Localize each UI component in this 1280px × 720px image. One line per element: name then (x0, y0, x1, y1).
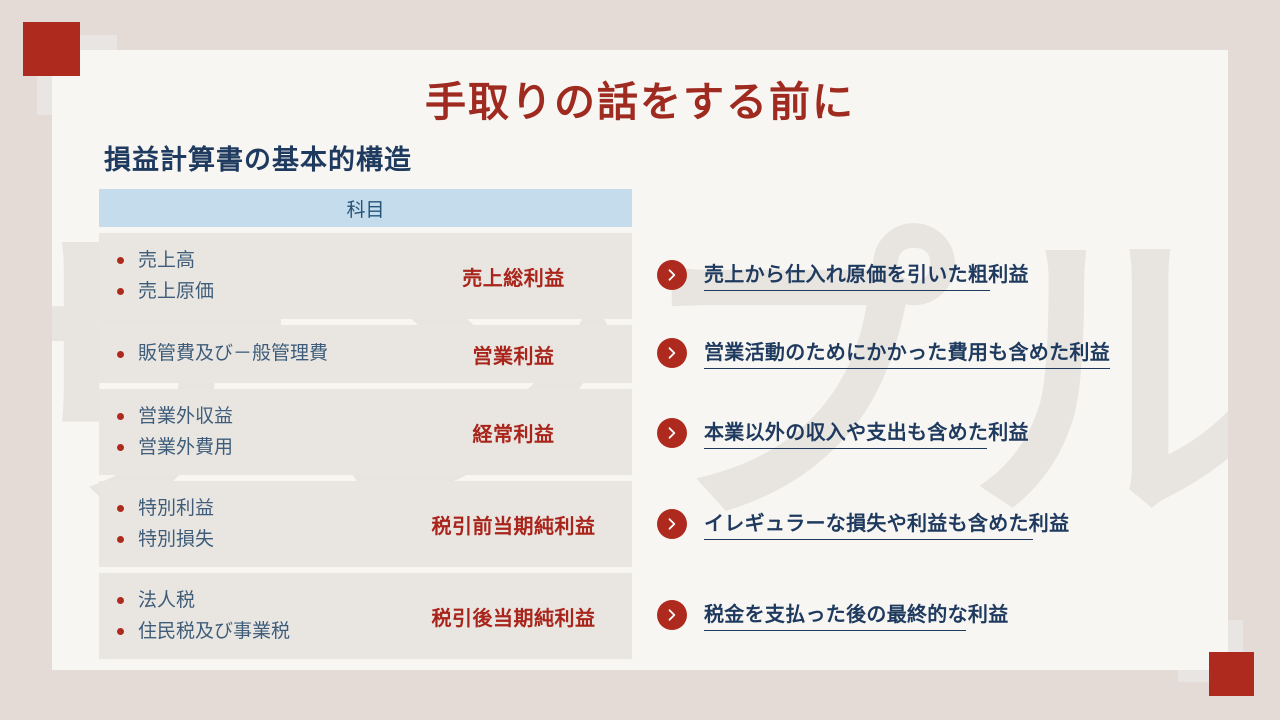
table-row: 営業外収益 営業外費用 経常利益 (99, 389, 632, 475)
slide-content: 手取りの話をする前に 損益計算書の基本的構造 科目 売上高 売上原価 (52, 50, 1228, 670)
annotation-item: 税金を支払った後の最終的な利益 (657, 598, 1009, 631)
table-row: 売上高 売上原価 売上総利益 (99, 233, 632, 319)
bullet-icon (117, 288, 124, 295)
list-item: 売上高 (117, 245, 399, 276)
annotation-label: 営業活動のためにかかった費用も含めた利益 (704, 336, 1110, 369)
bullet-icon (117, 444, 124, 451)
table-cell-subjects: 販管費及び－般管理費 (99, 338, 399, 369)
list-item: 特別損失 (117, 524, 399, 555)
list-item-label: 法人税 (138, 585, 195, 616)
list-item: 営業外収益 (117, 401, 399, 432)
table-row: 販管費及び－般管理費 営業利益 (99, 325, 632, 383)
table-cell-subjects: 特別利益 特別損失 (99, 493, 399, 556)
table-cell-profit: 営業利益 (399, 340, 628, 369)
list-item: 住民税及び事業税 (117, 616, 399, 647)
table-cell-profit: 税引前当期純利益 (399, 510, 628, 539)
table-row: 特別利益 特別損失 税引前当期純利益 (99, 481, 632, 567)
list-item: 売上原価 (117, 276, 399, 307)
annotation-label: 税金を支払った後の最終的な利益 (704, 598, 1009, 631)
list-item-label: 売上高 (138, 245, 195, 276)
chevron-right-icon (657, 260, 687, 290)
annotation-item: 営業活動のためにかかった費用も含めた利益 (657, 336, 1110, 369)
slide-root: サンプル 手取りの話をする前に 損益計算書の基本的構造 科目 売上高 売上原価 (0, 0, 1280, 720)
annotation-label: 売上から仕入れ原価を引いた粗利益 (704, 258, 1029, 291)
list-item: 特別利益 (117, 493, 399, 524)
table-cell-profit: 税引後当期純利益 (399, 602, 628, 631)
table-cell-subjects: 売上高 売上原価 (99, 245, 399, 308)
chevron-right-icon (657, 600, 687, 630)
bullet-icon (117, 257, 124, 264)
slide-panel: サンプル 手取りの話をする前に 損益計算書の基本的構造 科目 売上高 売上原価 (52, 50, 1228, 670)
list-item-label: 営業外費用 (138, 432, 233, 463)
bullet-icon (117, 536, 124, 543)
annotation-item: 売上から仕入れ原価を引いた粗利益 (657, 258, 1029, 291)
page-title: 手取りの話をする前に (52, 68, 1228, 128)
bullet-icon (117, 597, 124, 604)
list-item: 営業外費用 (117, 432, 399, 463)
chevron-right-icon (657, 418, 687, 448)
table-cell-profit: 売上総利益 (399, 262, 628, 291)
list-item-label: 特別損失 (138, 524, 214, 555)
bullet-icon (117, 413, 124, 420)
list-item-label: 特別利益 (138, 493, 214, 524)
list-item-label: 販管費及び－般管理費 (138, 338, 328, 369)
annotation-label: 本業以外の収入や支出も含めた利益 (704, 416, 1029, 449)
table-row: 法人税 住民税及び事業税 税引後当期純利益 (99, 573, 632, 659)
decoration-red-square-top-left (23, 22, 80, 76)
section-heading: 損益計算書の基本的構造 (104, 138, 412, 177)
table-column-header-subject: 科目 (99, 189, 632, 227)
profit-loss-table: 科目 売上高 売上原価 売上総利益 (99, 189, 632, 659)
list-item-label: 営業外収益 (138, 401, 233, 432)
list-item-label: 住民税及び事業税 (138, 616, 290, 647)
chevron-right-icon (657, 338, 687, 368)
annotation-item: イレギュラーな損失や利益も含めた利益 (657, 507, 1069, 540)
bullet-icon (117, 505, 124, 512)
chevron-right-icon (657, 509, 687, 539)
list-item: 法人税 (117, 585, 399, 616)
list-item-label: 売上原価 (138, 276, 214, 307)
annotation-label: イレギュラーな損失や利益も含めた利益 (704, 507, 1069, 540)
annotation-item: 本業以外の収入や支出も含めた利益 (657, 416, 1029, 449)
table-cell-subjects: 法人税 住民税及び事業税 (99, 585, 399, 648)
decoration-red-square-bottom-right (1209, 652, 1254, 696)
bullet-icon (117, 628, 124, 635)
list-item: 販管費及び－般管理費 (117, 338, 399, 369)
bullet-icon (117, 351, 124, 358)
table-cell-subjects: 営業外収益 営業外費用 (99, 401, 399, 464)
table-cell-profit: 経常利益 (399, 418, 628, 447)
